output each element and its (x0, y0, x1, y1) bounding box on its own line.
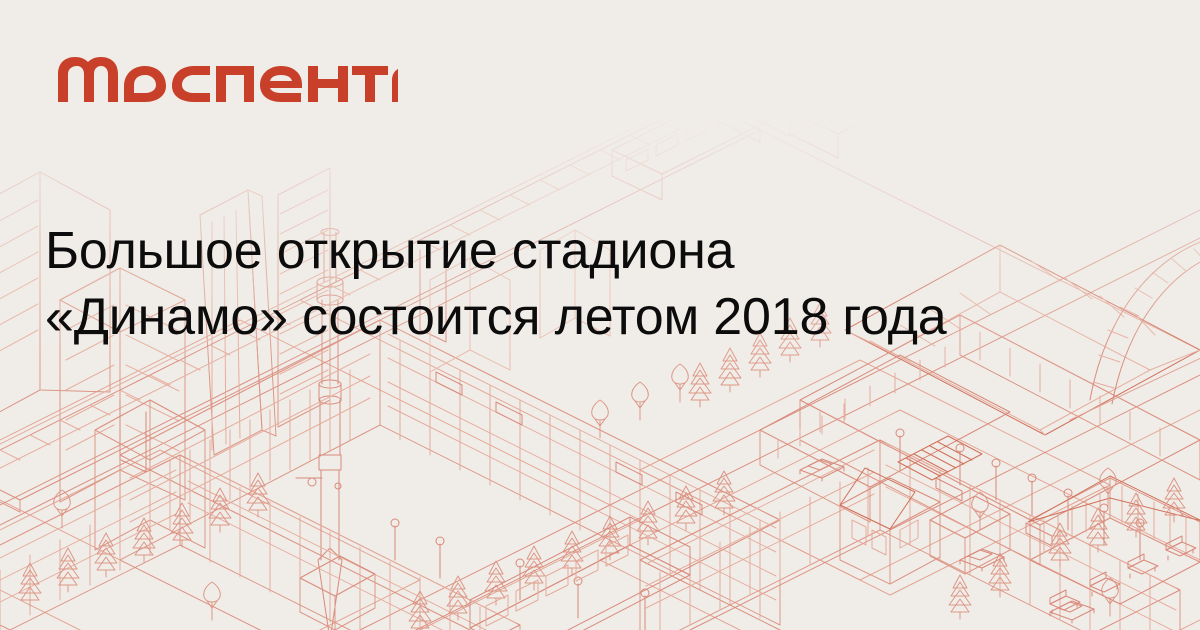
tram (470, 517, 690, 630)
columns (1044, 486, 1186, 556)
windows (130, 334, 776, 618)
logo-wordmark-moslenta[interactable]: Мослента (58, 56, 398, 104)
site-logo[interactable]: Мослента Мослента (58, 56, 398, 104)
small-buildings (300, 436, 1010, 630)
social-share-card: Мослента Мослента Большо (0, 0, 1200, 630)
apartment-block-c (640, 440, 1180, 630)
apartment-block-b (0, 455, 520, 630)
train (612, 55, 948, 200)
ground-plates (0, 100, 1200, 630)
street-furniture (391, 429, 1196, 630)
apartment-block-a (120, 320, 780, 630)
classical-portico (1028, 476, 1200, 604)
page-title: Большое открытие стадиона «Динамо» состо… (45, 218, 1135, 350)
logo-glyphs (58, 57, 398, 102)
tree-cluster (19, 303, 1185, 630)
